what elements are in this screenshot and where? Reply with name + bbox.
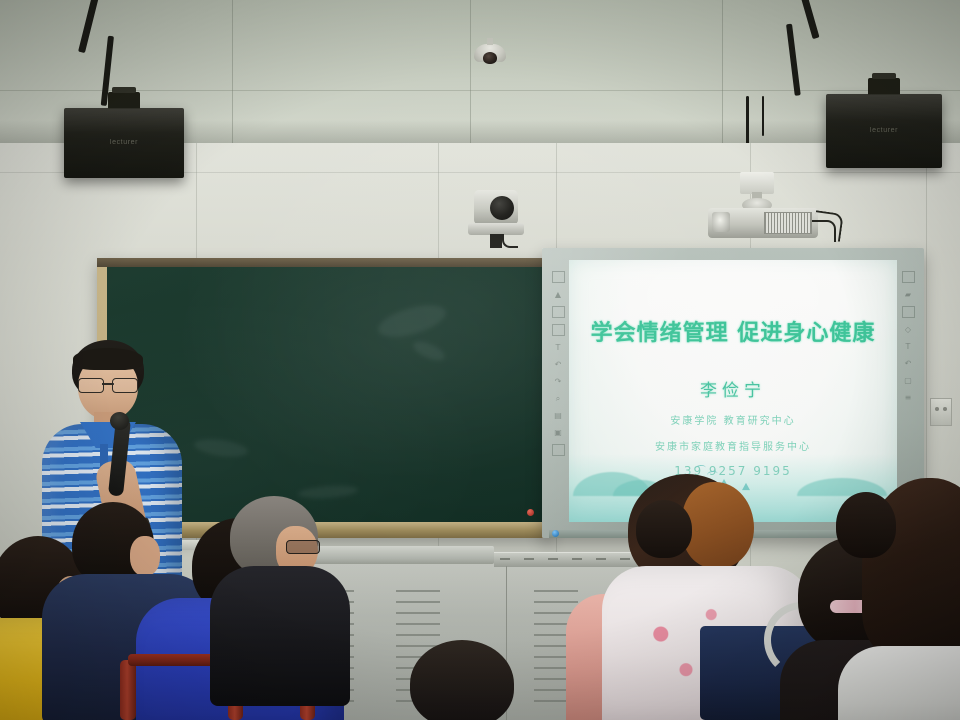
speaker-logo: lecturer [110,139,138,146]
outlet-hole [935,407,939,411]
outlet-hole [943,407,947,411]
glasses-lens-left [78,378,104,393]
chalk-smudge [193,437,249,460]
dome-camera-icon [474,44,506,62]
dome-camera-lens [483,52,497,64]
ceiling-seam [0,90,960,91]
glasses-lens-right [112,378,138,393]
projector-lens [712,212,730,232]
blackboard-top-cap [97,258,552,267]
ceiling-wire [762,96,764,136]
wall-speaker-left: lecturer [64,108,184,178]
undo-icon[interactable]: ↶ [552,359,564,370]
ptz-lens [490,196,514,220]
wall-speaker-right: lecturer [826,94,942,168]
pen-icon[interactable] [552,271,565,283]
settings-icon[interactable] [552,444,565,456]
page-icon[interactable]: ▤ [552,410,564,421]
magnet-icon [527,509,534,516]
eraser-icon[interactable] [902,306,915,318]
whiteboard-left-toolbar[interactable]: ▲ T ↶ ↷ ⌕ ▤ ▣ [549,255,567,530]
ptz-head [474,190,518,224]
audience-member-center [400,640,520,720]
chalk-smudge [410,337,447,364]
audience-member-black-jacket [224,496,336,686]
slide-org-line-2: 安康市家庭教育指导服务中心 [569,438,897,453]
power-led-icon [552,530,559,537]
attendee-black-jacket [210,566,350,706]
undo-icon[interactable]: ↶ [902,358,914,369]
ceiling-wire [746,96,749,150]
capture-icon[interactable]: ▢ [902,375,914,386]
glasses-icon [78,378,138,391]
projector-icon [706,172,830,244]
ptz-camera-icon [468,190,524,246]
glasses-icon [286,540,320,554]
attendee-hair [636,500,692,558]
redo-icon[interactable]: ↷ [552,376,564,387]
pen-icon[interactable] [902,271,915,283]
highlighter-icon[interactable]: ▰ [902,289,914,300]
text-icon[interactable]: T [552,342,564,353]
menu-icon[interactable]: ≡ [902,392,914,403]
speaker-bracket [108,92,140,109]
projector-vent [764,212,812,234]
select-icon[interactable]: ▲ [552,289,564,300]
ptz-arm [490,234,502,248]
save-icon[interactable]: ▣ [552,427,564,438]
wash-bird [695,464,707,472]
speaker-sheen [64,108,184,133]
audience-member-back-b [836,492,898,562]
attendee-hair [410,640,514,720]
speaker-bracket [868,78,900,95]
dome-camera-stem [487,38,493,45]
chair-back [120,660,136,720]
attendee-white-top [838,646,960,720]
attendee-hair [836,492,896,558]
speaker-logo: lecturer [870,127,898,134]
shape-icon[interactable] [552,324,565,336]
projector-cable [812,220,836,242]
presenter-fringe [73,348,143,370]
zoom-icon[interactable]: ⌕ [552,393,564,404]
slide-org-line-1: 安康学院 教育研究中心 [569,412,897,427]
projector-mount [740,172,774,194]
speaker-sheen [826,94,942,121]
slide-presenter-name: 李俭宁 [569,376,897,401]
wall-outlet-plate [930,398,952,426]
ptz-cable [502,234,518,248]
eraser-icon[interactable] [552,306,565,318]
chalk-smudge [374,299,448,343]
classroom-photo: lecturer lecturer [0,0,960,720]
text-icon[interactable]: T [902,341,914,352]
slide-title: 学会情绪管理 促进身心健康 [569,315,897,347]
audience-member-back-a [636,500,696,560]
shape-icon[interactable]: ◇ [902,324,914,335]
